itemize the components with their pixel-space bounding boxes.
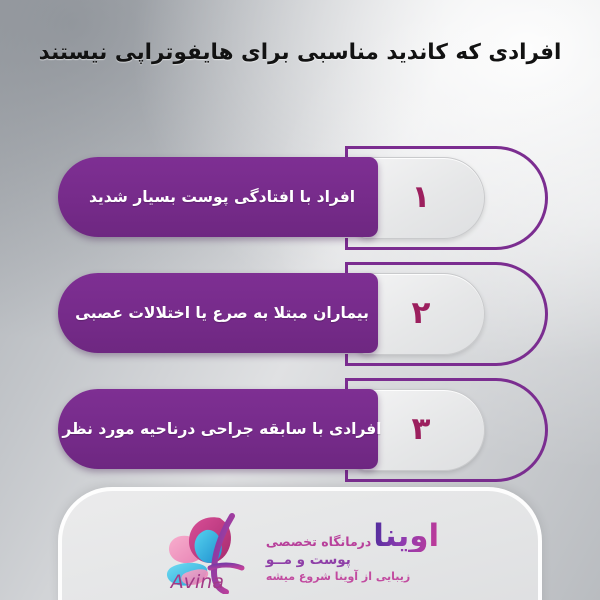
logo-clinic-line: درمانگاه تخصصی: [266, 535, 371, 548]
statement-bar-1: افراد با افتادگی پوست بسیار شدید: [58, 157, 378, 237]
list-item: ۱ افراد با افتادگی پوست بسیار شدید: [0, 146, 600, 250]
logo-brand-fa: آوینا: [373, 521, 439, 551]
list-item: ۲ بیماران مبتلا به صرع یا اختلالات عصبی: [0, 262, 600, 366]
number-badge-label: ۲: [412, 298, 431, 329]
statement-text: بیماران مبتلا به صرع یا اختلالات عصبی: [75, 302, 369, 324]
number-badge-label: ۳: [412, 414, 431, 445]
infographic-canvas: افرادی که کاندید مناسبی برای هایفوتراپی …: [0, 0, 600, 600]
logo-brand-en-text: Avina: [169, 571, 224, 593]
logo-first-line: آوینا درمانگاه تخصصی: [266, 521, 442, 551]
statement-bar-2: بیماران مبتلا به صرع یا اختلالات عصبی: [58, 273, 378, 353]
statement-text: افراد با افتادگی پوست بسیار شدید: [89, 186, 355, 208]
page-title: افرادی که کاندید مناسبی برای هایفوتراپی …: [0, 36, 600, 69]
number-badge-label: ۱: [412, 182, 431, 213]
logo-tagline: زیبایی از آوینا شروع میشه: [266, 571, 410, 583]
statement-bar-3: افرادی با سابقه جراحی درناحیه مورد نظر: [58, 389, 378, 469]
list-item: ۳ افرادی با سابقه جراحی درناحیه مورد نظر: [0, 378, 600, 482]
statement-text: افرادی با سابقه جراحی درناحیه مورد نظر: [62, 418, 381, 440]
logo-text-block: آوینا درمانگاه تخصصی پوست و مــو زیبایی …: [266, 521, 442, 582]
butterfly-icon: Avina: [158, 510, 262, 594]
logo-clinic-sub: پوست و مــو: [266, 553, 351, 567]
clinic-logo: آوینا درمانگاه تخصصی پوست و مــو زیبایی …: [135, 510, 465, 594]
